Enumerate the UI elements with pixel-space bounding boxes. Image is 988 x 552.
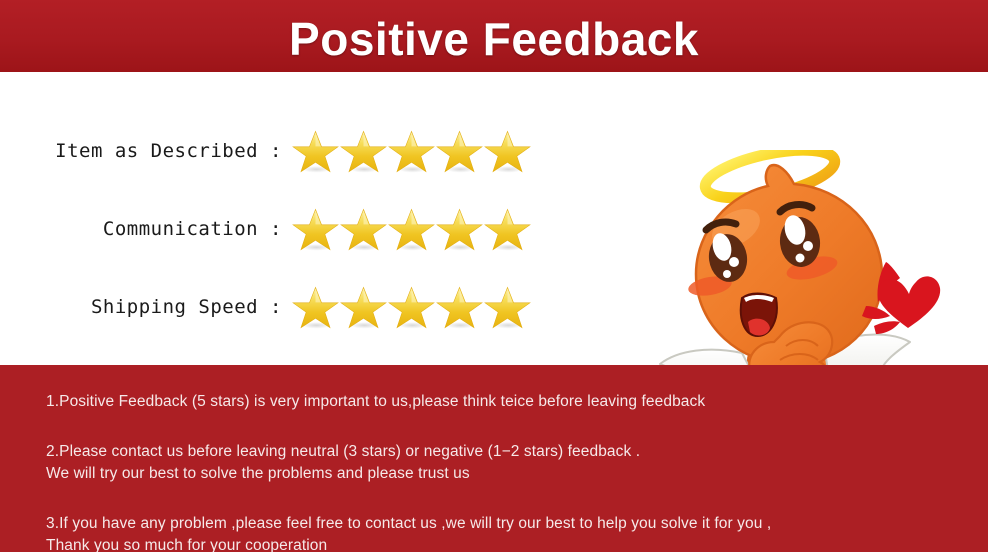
star-icon <box>484 285 531 330</box>
rating-label-item-as-described: Item as Described : <box>0 140 292 162</box>
star-rating-communication <box>292 207 531 252</box>
note-3-line-1: 3.If you have any problem ,please feel f… <box>46 513 988 535</box>
star-icon <box>292 285 339 330</box>
star-icon <box>484 129 531 174</box>
star-icon <box>340 285 387 330</box>
rating-label-communication: Communication : <box>0 218 292 240</box>
rating-row: Item as Described : <box>0 112 560 190</box>
star-icon <box>340 129 387 174</box>
note-item-3: 3.If you have any problem ,please feel f… <box>46 513 988 552</box>
note-1-line-1: 1.Positive Feedback (5 stars) is very im… <box>46 391 988 413</box>
star-rating-item-as-described <box>292 129 531 174</box>
page-title: Positive Feedback <box>289 16 699 62</box>
star-icon <box>436 207 483 252</box>
rating-row: Shipping Speed : <box>0 268 560 346</box>
feedback-notes-band: 1.Positive Feedback (5 stars) is very im… <box>0 365 988 552</box>
header-banner: Positive Feedback <box>0 0 988 72</box>
star-icon <box>292 129 339 174</box>
star-icon <box>388 207 435 252</box>
star-rating-shipping-speed <box>292 285 531 330</box>
star-icon <box>436 285 483 330</box>
rating-label-shipping-speed: Shipping Speed : <box>0 296 292 318</box>
star-icon <box>388 285 435 330</box>
note-3-line-2: Thank you so much for your cooperation <box>46 535 988 552</box>
star-icon <box>340 207 387 252</box>
ratings-panel: Item as Described : <box>0 72 988 365</box>
note-2-line-2: We will try our best to solve the proble… <box>46 463 988 485</box>
star-icon <box>436 129 483 174</box>
positive-feedback-banner: Positive Feedback Item as Described : <box>0 0 988 552</box>
mouth-icon <box>741 294 777 337</box>
note-2-line-1: 2.Please contact us before leaving neutr… <box>46 441 988 463</box>
rating-row: Communication : <box>0 190 560 268</box>
star-icon <box>484 207 531 252</box>
star-icon <box>388 129 435 174</box>
star-icon <box>292 207 339 252</box>
note-item-2: 2.Please contact us before leaving neutr… <box>46 441 988 485</box>
ratings-list: Item as Described : <box>0 112 560 346</box>
note-item-1: 1.Positive Feedback (5 stars) is very im… <box>46 391 988 413</box>
